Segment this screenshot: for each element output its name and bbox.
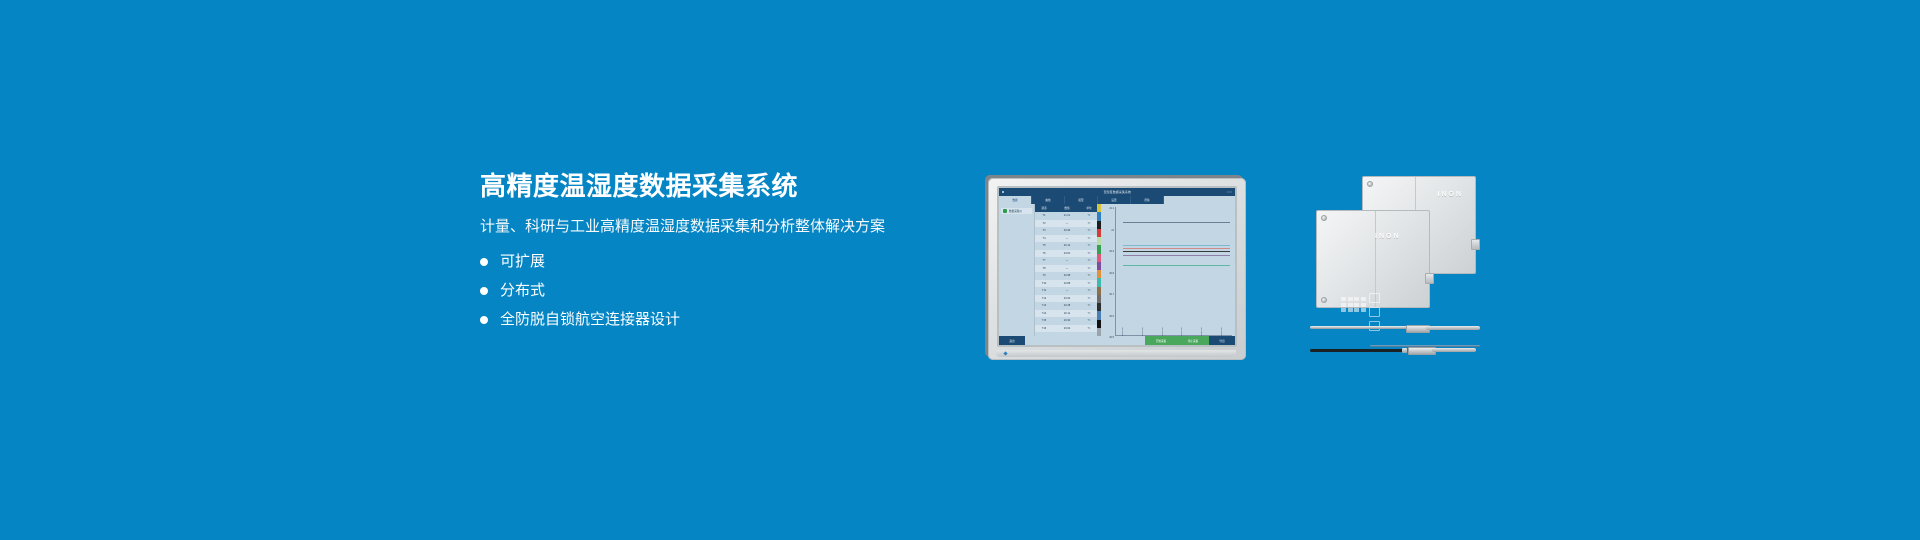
y-axis-tick: 20.6 bbox=[1109, 315, 1114, 318]
tree-node-label: 数据采集仪 bbox=[1009, 209, 1022, 213]
cell-value: 20.12 bbox=[1053, 244, 1081, 247]
table-row[interactable]: T320.99℃ bbox=[1035, 227, 1097, 235]
chart-x-axis: 09:00:0009:10:0009:20:0009:30:0009:40:00… bbox=[1113, 322, 1232, 336]
tab-data[interactable]: 数据 bbox=[999, 196, 1032, 204]
probe-tip bbox=[1432, 348, 1476, 352]
cell-value: --- bbox=[1053, 237, 1081, 240]
cell-unit: ℃ bbox=[1081, 297, 1097, 300]
table-body: T121.01℃T2---℃T320.99℃T4---℃T520.12℃T620… bbox=[1035, 212, 1097, 332]
app-titlebar: 温湿度数据采集系统 bbox=[999, 188, 1235, 196]
cell-channel: T12 bbox=[1035, 297, 1053, 300]
y-axis-tick: 20.8 bbox=[1109, 272, 1114, 275]
table-header-row: 通道 数值 单位 bbox=[1035, 204, 1097, 212]
chart-plot-area bbox=[1115, 207, 1232, 336]
cell-channel: T13 bbox=[1035, 304, 1053, 307]
probe-cable bbox=[1310, 349, 1406, 352]
app-footer: 退出 开始采集 停止采集 导出 bbox=[999, 336, 1235, 345]
cell-value: --- bbox=[1053, 267, 1081, 270]
hardware-group: INON INON bbox=[1300, 172, 1480, 372]
cell-channel: T4 bbox=[1035, 237, 1053, 240]
cell-unit: ℃ bbox=[1081, 274, 1097, 277]
monitor-inner-frame: 温湿度数据采集系统 数据 曲线 报警 设置 帮助 bbox=[997, 186, 1237, 347]
cell-value: 20.11 bbox=[1053, 312, 1081, 315]
table-row[interactable]: T4---℃ bbox=[1035, 235, 1097, 243]
list-item: 分布式 bbox=[480, 283, 950, 298]
window-controls[interactable] bbox=[1227, 191, 1232, 193]
hero-banner: 高精度温湿度数据采集系统 计量、科研与工业高精度温湿度数据采集和分析整体解决方案… bbox=[0, 0, 1920, 540]
cell-value: --- bbox=[1053, 289, 1081, 292]
table-row[interactable]: T1020.88℃ bbox=[1035, 280, 1097, 288]
table-row[interactable]: T11---℃ bbox=[1035, 287, 1097, 295]
stop-capture-button[interactable]: 停止采集 bbox=[1177, 336, 1209, 345]
monitor-bezel: 温湿度数据采集系统 数据 曲线 报警 设置 帮助 bbox=[988, 178, 1246, 360]
monitor-base bbox=[996, 350, 1236, 357]
cell-unit: ℃ bbox=[1081, 289, 1097, 292]
cell-channel: T1 bbox=[1035, 214, 1053, 217]
hero-copy-block: 高精度温湿度数据采集系统 计量、科研与工业高精度温湿度数据采集和分析整体解决方案… bbox=[480, 172, 950, 341]
feature-label: 分布式 bbox=[500, 283, 545, 298]
tab-bar-filler bbox=[1164, 196, 1235, 204]
cell-unit: ℃ bbox=[1081, 282, 1097, 285]
table-row[interactable]: T520.12℃ bbox=[1035, 242, 1097, 250]
table-row[interactable]: T2---℃ bbox=[1035, 220, 1097, 228]
tab-bar: 数据 曲线 报警 设置 帮助 bbox=[999, 196, 1235, 204]
chart-trace bbox=[1123, 248, 1230, 249]
footer-spacer bbox=[1025, 336, 1145, 345]
tab-curve[interactable]: 曲线 bbox=[1032, 196, 1065, 204]
cell-unit: ℃ bbox=[1081, 237, 1097, 240]
cell-value: 20.99 bbox=[1053, 229, 1081, 232]
page-subtitle: 计量、科研与工业高精度温湿度数据采集和分析整体解决方案 bbox=[480, 217, 950, 237]
screw-icon bbox=[1367, 181, 1373, 187]
table-row[interactable]: T1420.11℃ bbox=[1035, 310, 1097, 318]
software-screen: 温湿度数据采集系统 数据 曲线 报警 设置 帮助 bbox=[999, 188, 1235, 345]
cell-channel: T8 bbox=[1035, 267, 1053, 270]
cell-unit: ℃ bbox=[1081, 252, 1097, 255]
x-axis-tick: 09:20:00 bbox=[1162, 322, 1164, 336]
x-axis-tick: 09:00:00 bbox=[1122, 322, 1124, 336]
cell-value: 20.94 bbox=[1053, 327, 1081, 330]
tab-alarm[interactable]: 报警 bbox=[1065, 196, 1098, 204]
cell-value: 20.98 bbox=[1053, 274, 1081, 277]
table-row[interactable]: T7---℃ bbox=[1035, 257, 1097, 265]
temperature-probe-connector bbox=[1310, 344, 1480, 358]
list-item: 可扩展 bbox=[480, 254, 950, 269]
status-ok-icon bbox=[1003, 209, 1007, 213]
cell-unit: ℃ bbox=[1081, 229, 1097, 232]
start-capture-button[interactable]: 开始采集 bbox=[1145, 336, 1177, 345]
screw-icon bbox=[1321, 297, 1327, 303]
cell-unit: ℃ bbox=[1081, 222, 1097, 225]
chart-trace bbox=[1123, 222, 1230, 223]
cell-unit: ℃ bbox=[1081, 312, 1097, 315]
tab-settings[interactable]: 设置 bbox=[1098, 196, 1131, 204]
chart-trace bbox=[1123, 251, 1230, 252]
cell-channel: T11 bbox=[1035, 289, 1053, 292]
feature-list: 可扩展 分布式 全防脱自锁航空连接器设计 bbox=[480, 254, 950, 327]
x-axis-tick: 09:50:00 bbox=[1221, 322, 1223, 336]
cell-value: 20.92 bbox=[1053, 297, 1081, 300]
probe-rod bbox=[1310, 326, 1410, 329]
y-axis-tick: 20.9 bbox=[1109, 250, 1114, 253]
cell-value: 20.81 bbox=[1053, 252, 1081, 255]
cell-channel: T7 bbox=[1035, 259, 1053, 262]
cell-channel: T15 bbox=[1035, 319, 1053, 322]
bullet-dot-icon bbox=[480, 258, 488, 266]
cell-channel: T6 bbox=[1035, 252, 1053, 255]
y-axis-tick: 21 bbox=[1111, 229, 1114, 232]
cell-channel: T14 bbox=[1035, 312, 1053, 315]
cell-value: 21.01 bbox=[1053, 214, 1081, 217]
cell-channel: T10 bbox=[1035, 282, 1053, 285]
channel-table: 通道 数值 单位 T121.01℃T2---℃T320.99℃T4---℃T52… bbox=[1035, 204, 1097, 336]
cell-value: --- bbox=[1053, 222, 1081, 225]
feature-label: 可扩展 bbox=[500, 254, 545, 269]
temperature-probe-long bbox=[1310, 324, 1480, 334]
cell-unit: ℃ bbox=[1081, 319, 1097, 322]
cell-unit: ℃ bbox=[1081, 214, 1097, 217]
tree-node-device[interactable]: 数据采集仪 bbox=[1001, 208, 1032, 214]
cell-channel: T2 bbox=[1035, 222, 1053, 225]
chart-y-axis: 21.12120.920.820.720.620.5 bbox=[1103, 207, 1115, 336]
table-row[interactable]: T620.81℃ bbox=[1035, 250, 1097, 258]
column-header-value: 数值 bbox=[1053, 206, 1081, 210]
cell-value: 20.88 bbox=[1053, 282, 1081, 285]
brand-logo: INON bbox=[1375, 233, 1401, 240]
table-row[interactable]: T8---℃ bbox=[1035, 265, 1097, 273]
y-axis-tick: 20.7 bbox=[1109, 293, 1114, 296]
brand-logo: INON bbox=[1438, 191, 1464, 198]
cell-channel: T5 bbox=[1035, 244, 1053, 247]
cell-unit: ℃ bbox=[1081, 304, 1097, 307]
trend-chart: 21.12120.920.820.720.620.5 09:00:0009:10… bbox=[1101, 204, 1235, 336]
y-axis-tick: 20.5 bbox=[1109, 336, 1114, 339]
tab-help[interactable]: 帮助 bbox=[1131, 196, 1164, 204]
exit-button[interactable]: 退出 bbox=[999, 336, 1025, 345]
cell-value: --- bbox=[1053, 259, 1081, 262]
x-axis-tick: 09:10:00 bbox=[1142, 322, 1144, 336]
probe-nut bbox=[1402, 348, 1407, 353]
chart-trace bbox=[1123, 245, 1230, 246]
cell-channel: T16 bbox=[1035, 327, 1053, 330]
column-header-unit: 单位 bbox=[1081, 206, 1097, 210]
cell-unit: ℃ bbox=[1081, 259, 1097, 262]
feature-label: 全防脱自锁航空连接器设计 bbox=[500, 312, 680, 327]
cell-unit: ℃ bbox=[1081, 267, 1097, 270]
connector-port bbox=[1471, 239, 1480, 250]
app-body: 数据采集仪 通道 数值 单位 T121.01℃T2---℃T320.99℃T4-… bbox=[999, 204, 1235, 336]
table-row[interactable]: T1620.94℃ bbox=[1035, 325, 1097, 333]
chart-trace bbox=[1123, 255, 1230, 256]
table-row[interactable]: T920.98℃ bbox=[1035, 272, 1097, 280]
table-row[interactable]: T121.01℃ bbox=[1035, 212, 1097, 220]
screw-icon bbox=[1321, 215, 1327, 221]
page-title: 高精度温湿度数据采集系统 bbox=[480, 172, 950, 201]
product-monitor: 温湿度数据采集系统 数据 曲线 报警 设置 帮助 bbox=[988, 178, 1246, 360]
device-tree-panel: 数据采集仪 bbox=[999, 204, 1035, 336]
app-title: 温湿度数据采集系统 bbox=[1103, 190, 1130, 194]
table-row[interactable]: T1320.28℃ bbox=[1035, 302, 1097, 310]
cell-unit: ℃ bbox=[1081, 244, 1097, 247]
label-grid-icon bbox=[1341, 297, 1366, 312]
table-row[interactable]: T1220.92℃ bbox=[1035, 295, 1097, 303]
cell-value: 20.90 bbox=[1053, 319, 1081, 322]
list-item: 全防脱自锁航空连接器设计 bbox=[480, 312, 950, 327]
cell-channel: T3 bbox=[1035, 229, 1053, 232]
connector-port bbox=[1425, 273, 1434, 284]
bullet-dot-icon bbox=[480, 316, 488, 324]
x-axis-tick: 09:30:00 bbox=[1181, 322, 1183, 336]
cell-channel: T9 bbox=[1035, 274, 1053, 277]
chart-trace bbox=[1123, 265, 1230, 266]
cell-value: 20.28 bbox=[1053, 304, 1081, 307]
probe-tip bbox=[1426, 326, 1480, 330]
x-axis-tick: 09:40:00 bbox=[1201, 322, 1203, 336]
export-button[interactable]: 导出 bbox=[1209, 336, 1235, 345]
bullet-dot-icon bbox=[480, 287, 488, 295]
table-row[interactable]: T1520.90℃ bbox=[1035, 317, 1097, 325]
column-header-channel: 通道 bbox=[1035, 206, 1053, 210]
y-axis-tick: 21.1 bbox=[1109, 207, 1114, 210]
data-logger-front: INON bbox=[1316, 210, 1430, 308]
cell-unit: ℃ bbox=[1081, 327, 1097, 330]
app-icon bbox=[1002, 191, 1004, 193]
